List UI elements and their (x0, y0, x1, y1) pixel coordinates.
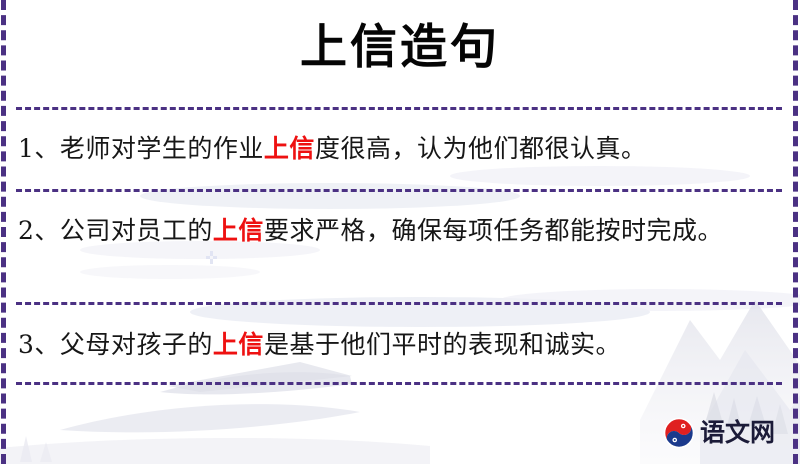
left-dashed-border (1, 0, 6, 464)
divider-2 (16, 189, 782, 192)
yinyang-circle-icon (663, 417, 695, 449)
sentence-2-prefix: 2、公司对员工的 (18, 216, 213, 245)
site-logo-text: 语文网 (700, 417, 775, 449)
sentence-2-keyword: 上信 (213, 216, 264, 245)
sentence-1-keyword: 上信 (264, 134, 315, 163)
sentence-1: 1、老师对学生的作业上信度很高，认为他们都很认真。 (18, 128, 784, 169)
sentence-3-keyword: 上信 (213, 330, 264, 359)
right-dashed-border (793, 0, 798, 464)
sentence-3: 3、父母对孩子的上信是基于他们平时的表现和诚实。 (18, 324, 784, 365)
sentence-2-suffix: 要求严格，确保每项任务都能按时完成。 (264, 216, 723, 245)
sentence-2: 2、公司对员工的上信要求严格，确保每项任务都能按时完成。 (18, 210, 784, 251)
divider-4 (16, 382, 782, 385)
sentence-1-suffix: 度很高，认为他们都很认真。 (315, 134, 647, 163)
slide-canvas: 上信造句 1、老师对学生的作业上信度很高，认为他们都很认真。 2、公司对员工的上… (0, 0, 800, 464)
divider-3 (16, 302, 782, 305)
page-title: 上信造句 (0, 22, 800, 74)
site-logo[interactable]: 语文网 (663, 417, 775, 449)
sentence-1-prefix: 1、老师对学生的作业 (18, 134, 264, 163)
sentence-3-suffix: 是基于他们平时的表现和诚实。 (264, 330, 621, 359)
divider-1 (16, 107, 782, 110)
sentence-3-prefix: 3、父母对孩子的 (18, 330, 213, 359)
